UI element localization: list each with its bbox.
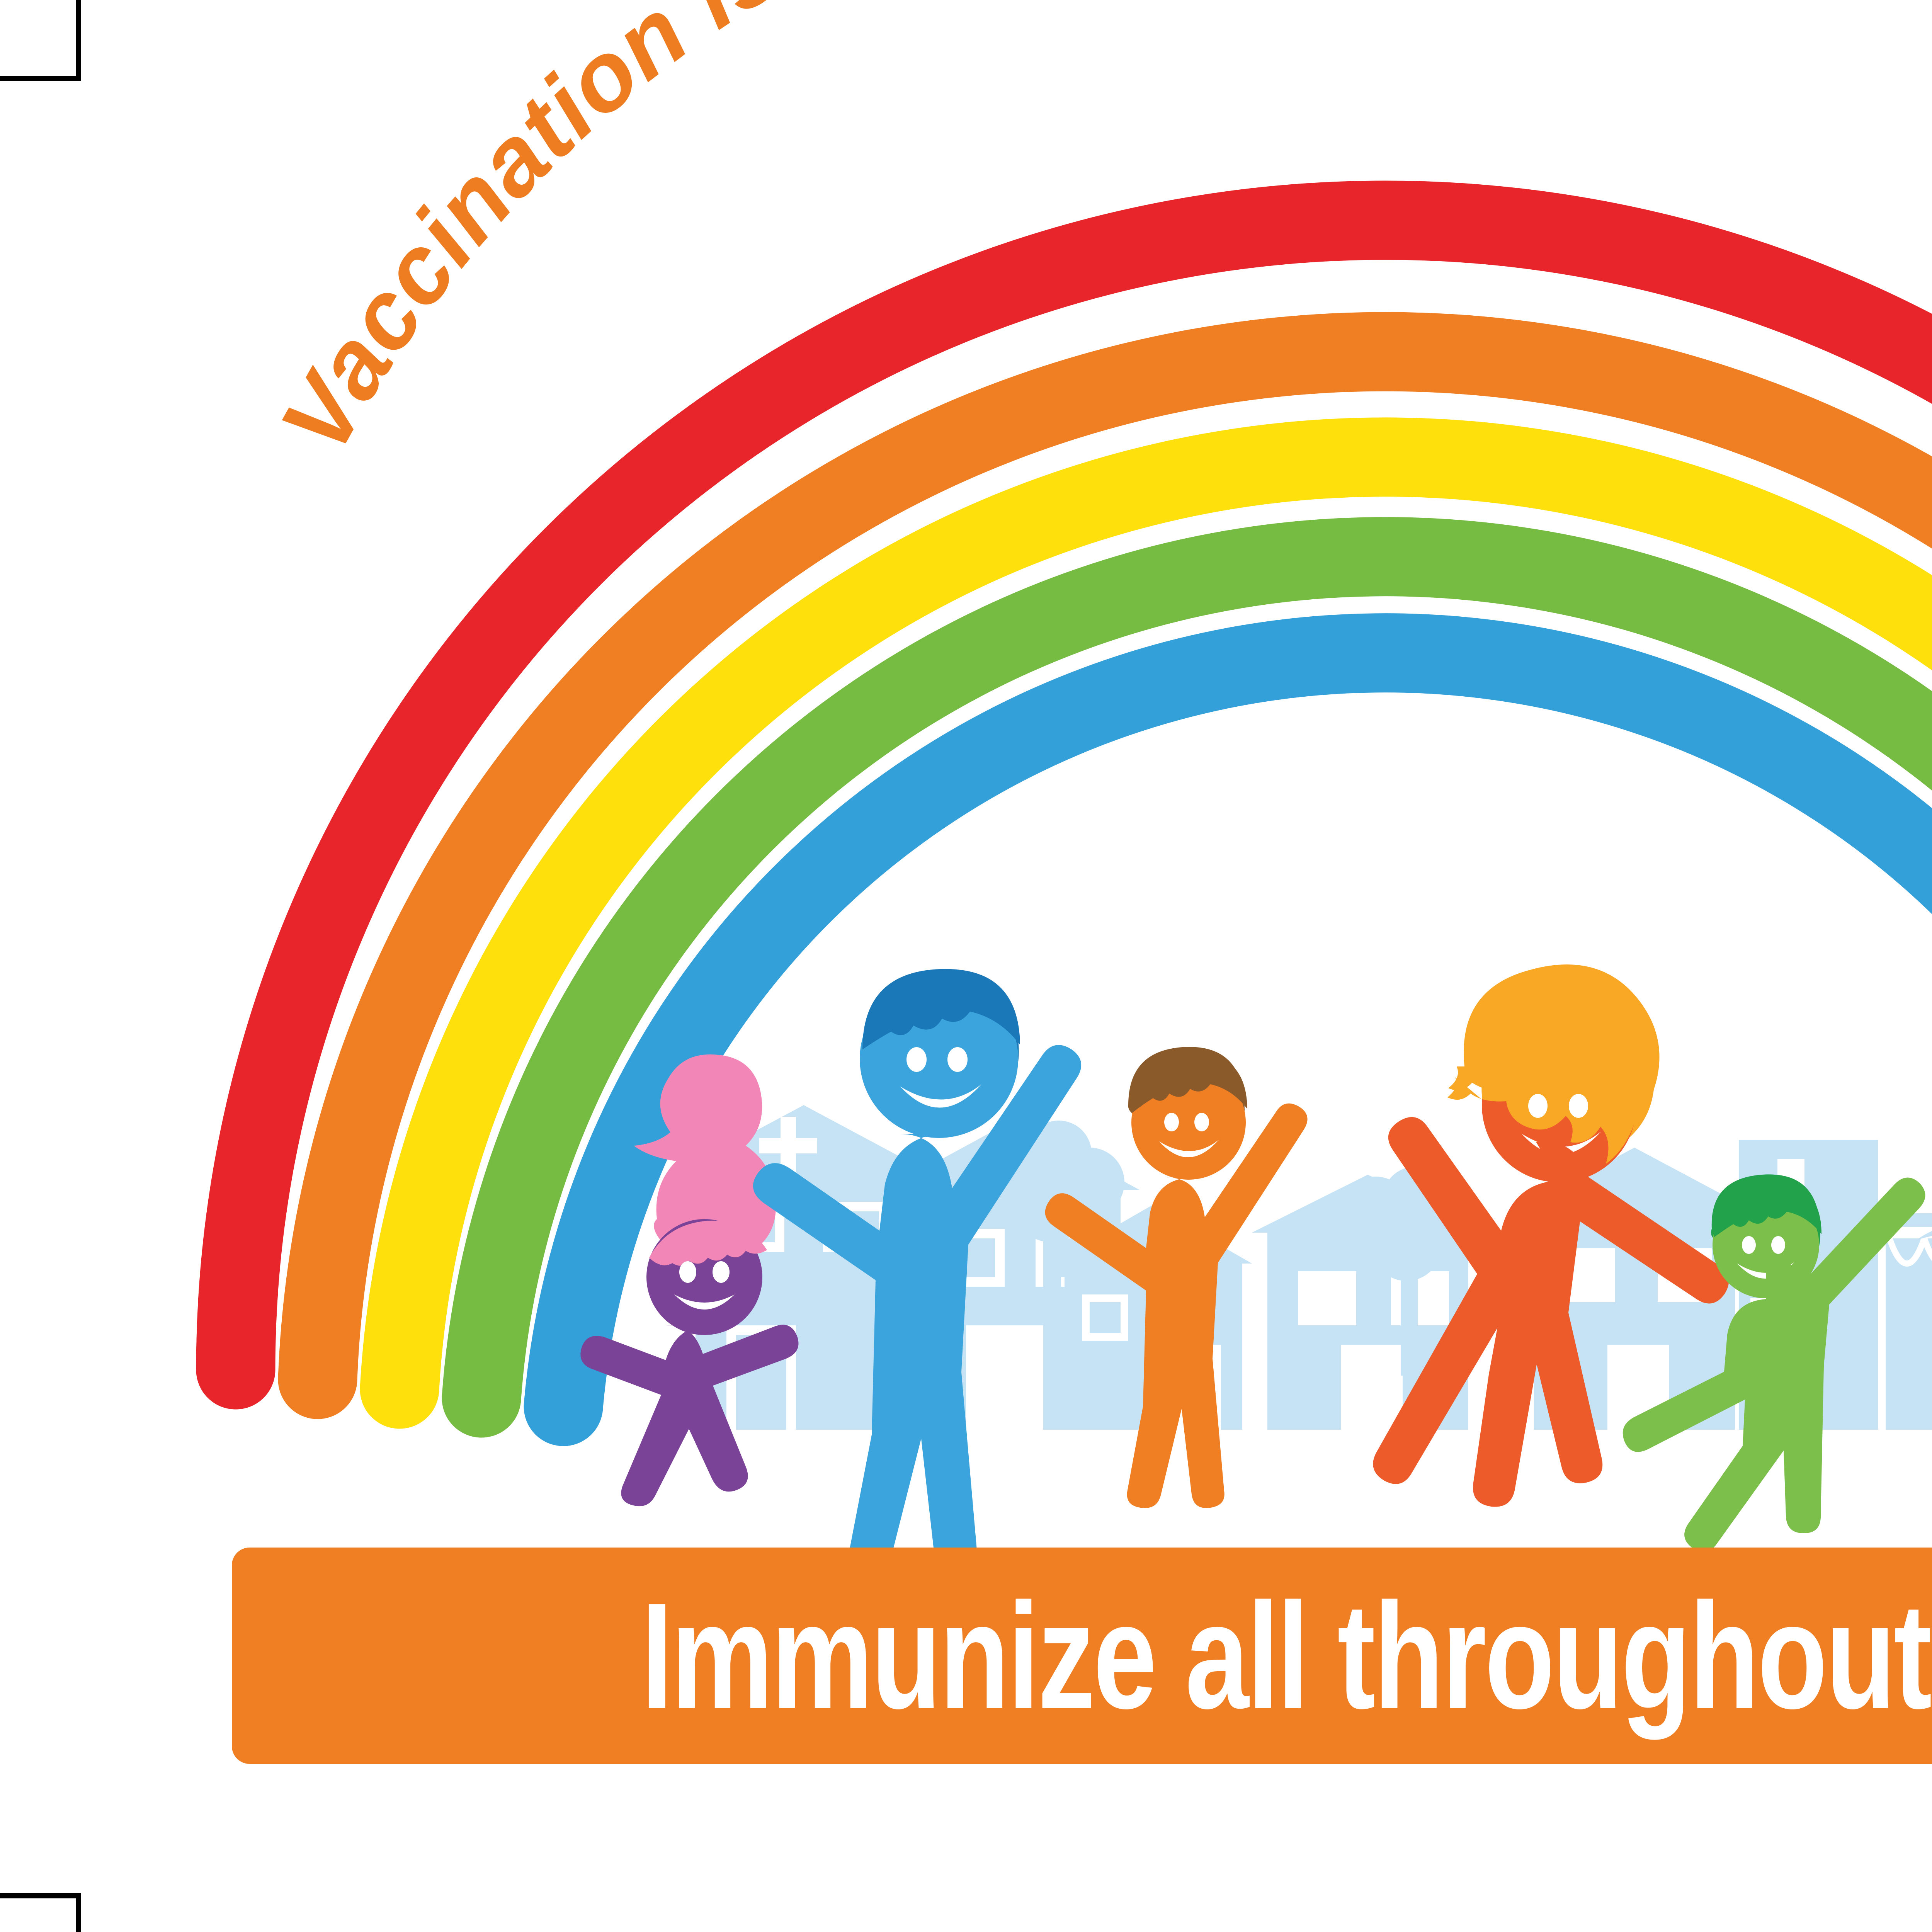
crop-mark-top-left-horizontal [0,76,81,81]
crop-mark-bottom-left-vertical [76,1893,81,1932]
crop-mark-top-left-vertical [76,0,81,81]
banner-headline-container: Immunize all throughout life. [232,1548,1932,1764]
banner-headline-text: Immunize all throughout life. [641,1580,1932,1731]
poster-canvas: Vaccination is everyone's job, protect y… [0,0,1932,1932]
crop-mark-bottom-left-horizontal [0,1893,81,1898]
shop-building [1886,1213,1932,1430]
